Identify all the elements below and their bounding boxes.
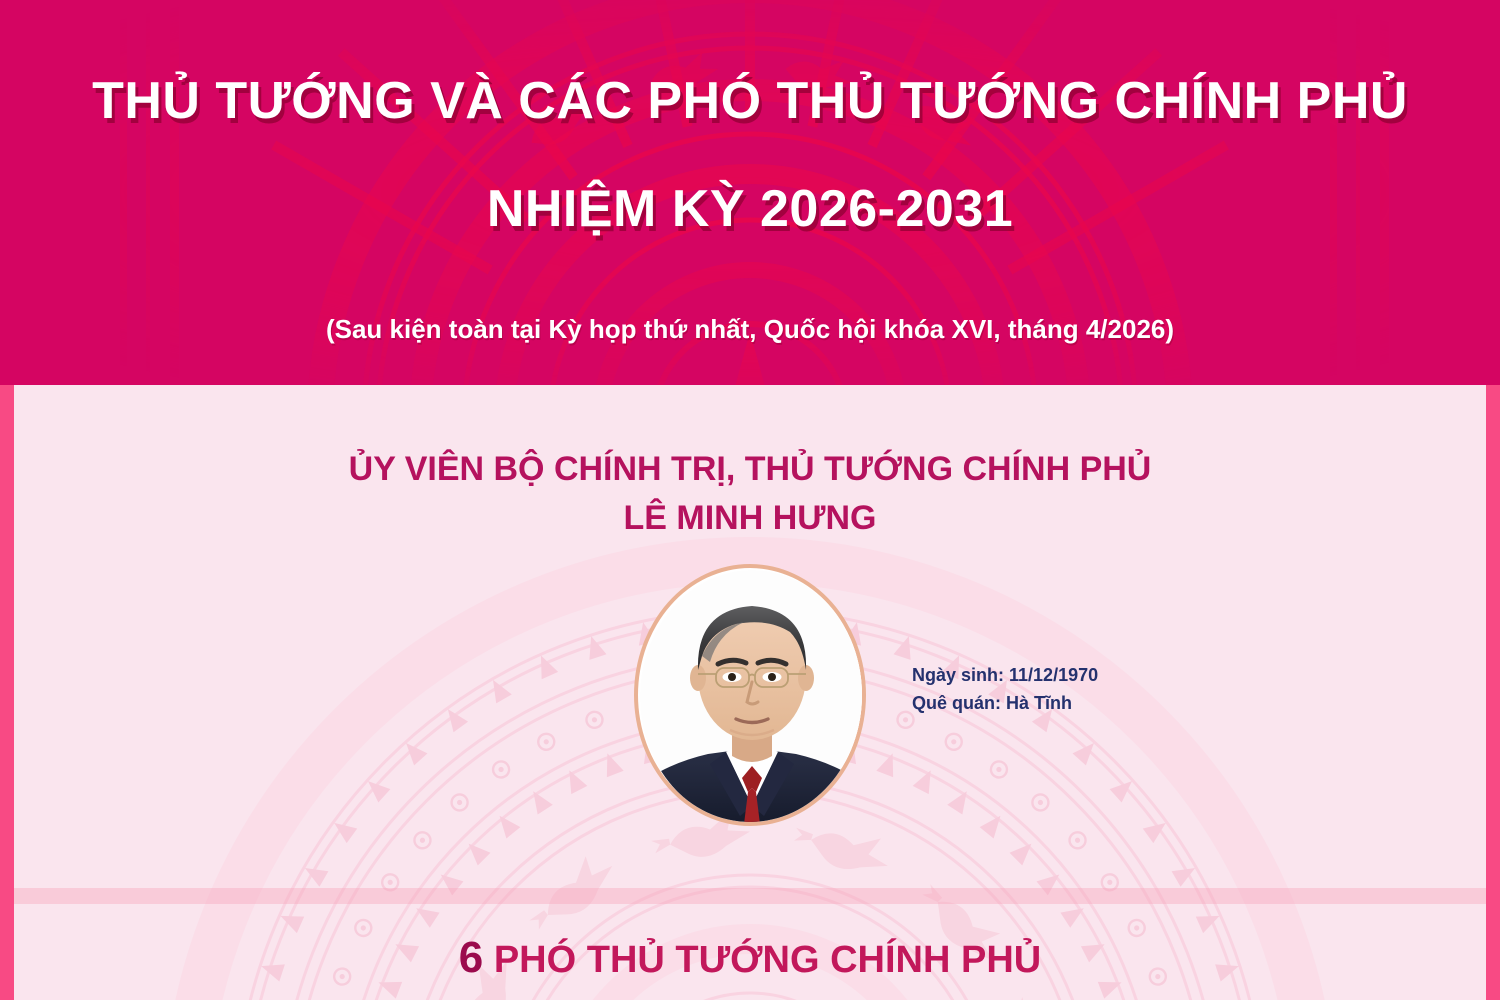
portrait-row: Ngày sinh: 11/12/1970 Quê quán: Hà Tĩnh — [0, 564, 1500, 826]
page-title-line-2: NHIỆM KỲ 2026-2031 — [487, 180, 1013, 240]
deputies-heading: 6 PHÓ THỦ TƯỚNG CHÍNH PHỦ — [0, 933, 1500, 983]
prime-minister-details: Ngày sinh: 11/12/1970 Quê quán: Hà Tĩnh — [912, 662, 1098, 718]
body-section: ỦY VIÊN BỘ CHÍNH TRỊ, THỦ TƯỚNG CHÍNH PH… — [0, 385, 1500, 1000]
deputies-count: 6 — [459, 933, 483, 982]
header-banner: THỦ TƯỚNG VÀ CÁC PHÓ THỦ TƯỚNG CHÍNH PHỦ… — [0, 0, 1500, 385]
prime-minister-block: ỦY VIÊN BỘ CHÍNH TRỊ, THỦ TƯỚNG CHÍNH PH… — [0, 385, 1500, 1000]
portrait-ring — [634, 564, 866, 826]
portrait-illustration-icon — [640, 570, 864, 824]
header-content: THỦ TƯỚNG VÀ CÁC PHÓ THỦ TƯỚNG CHÍNH PHỦ… — [0, 0, 1500, 385]
header-subtitle: (Sau kiện toàn tại Kỳ họp thứ nhất, Quốc… — [326, 314, 1174, 345]
page-title-line-1: THỦ TƯỚNG VÀ CÁC PHÓ THỦ TƯỚNG CHÍNH PHỦ — [92, 72, 1408, 132]
prime-minister-role: ỦY VIÊN BỘ CHÍNH TRỊ, THỦ TƯỚNG CHÍNH PH… — [349, 447, 1152, 493]
right-edge-accent-strip — [1486, 385, 1500, 1000]
prime-minister-portrait — [634, 564, 866, 826]
deputies-label: PHÓ THỦ TƯỚNG CHÍNH PHỦ — [494, 939, 1041, 981]
birth-date: Ngày sinh: 11/12/1970 — [912, 662, 1098, 690]
prime-minister-name: LÊ MINH HƯNG — [624, 499, 877, 538]
portrait-photo — [640, 570, 864, 824]
infographic-page: THỦ TƯỚNG VÀ CÁC PHÓ THỦ TƯỚNG CHÍNH PHỦ… — [0, 0, 1500, 1000]
hometown: Quê quán: Hà Tĩnh — [912, 690, 1098, 718]
left-edge-accent-strip — [0, 385, 14, 1000]
